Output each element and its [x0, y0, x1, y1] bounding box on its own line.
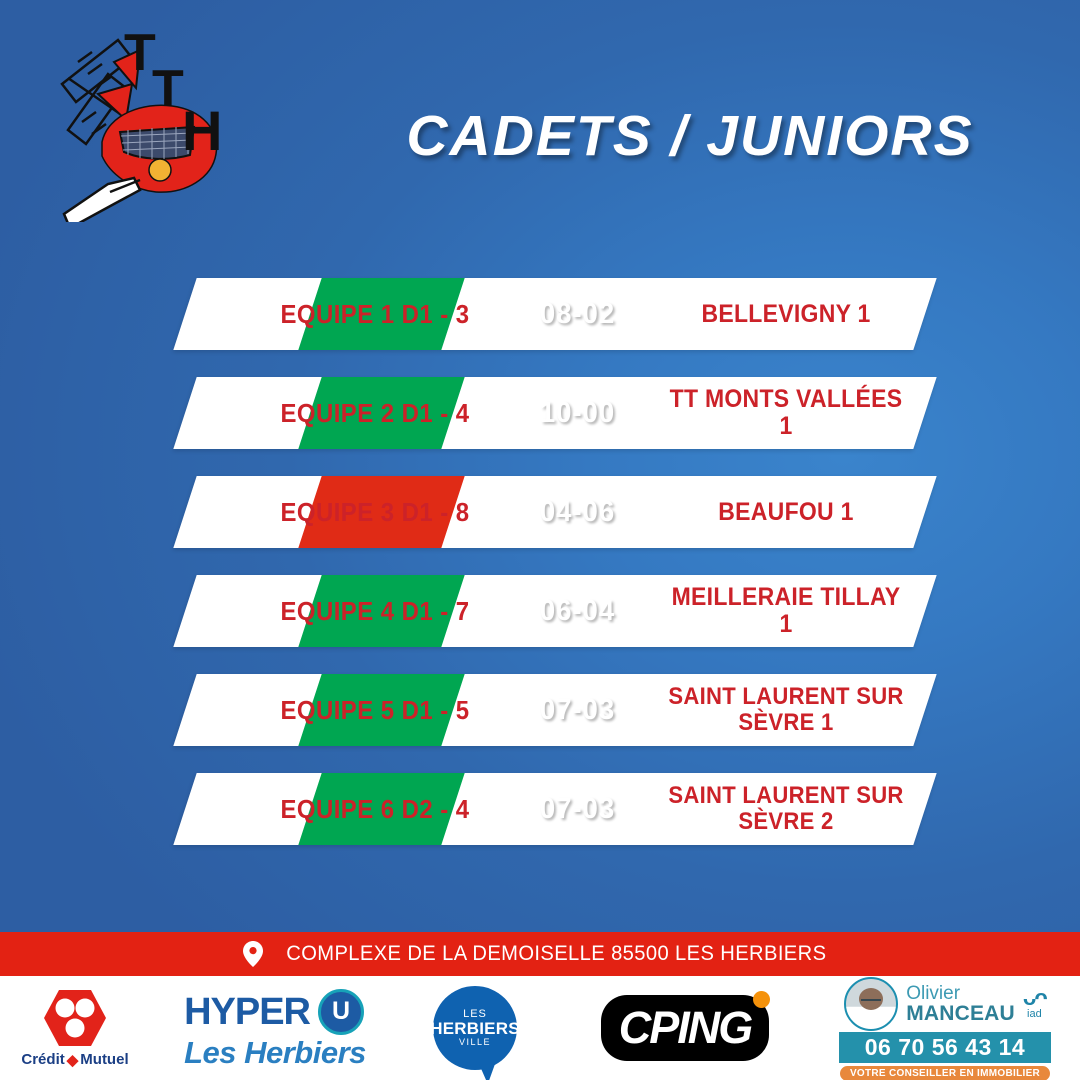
sponsor-strip: Crédit ◆ Mutuel HYPER U Les Herbiers LES…: [0, 976, 1080, 1080]
credit-mutuel-label-1: Crédit: [21, 1051, 64, 1068]
tth-logo-icon: T T H: [48, 22, 238, 222]
result-row: EQUIPE 5 D1 - 5 07-03 SAINT LAURENT SUR …: [0, 674, 1080, 746]
score-value: 07-03: [513, 674, 641, 746]
sponsor-hyper-u: HYPER U Les Herbiers: [150, 976, 400, 1080]
result-row: EQUIPE 1 D1 - 3 08-02 BELLEVIGNY 1: [0, 278, 1080, 350]
hyper-u-badge-icon: U: [318, 989, 364, 1035]
logo-letter-t2: T: [152, 60, 184, 118]
club-logo: T T H: [48, 22, 238, 222]
iad-brand: iad: [1027, 1009, 1042, 1020]
agent-last-name: MANCEAU: [906, 1003, 1015, 1024]
score-value: 07-03: [513, 773, 641, 845]
home-team-name: EQUIPE 2 D1 - 4: [237, 377, 513, 449]
result-row: EQUIPE 4 D1 - 7 06-04 MEILLERAIE TILLAY …: [0, 575, 1080, 647]
score-value: 06-04: [513, 575, 641, 647]
hyper-u-wordmark: HYPER: [184, 993, 310, 1031]
opponent-name: MEILLERAIE TILLAY 1: [658, 575, 914, 647]
credit-mutuel-diamond-icon: ◆: [67, 1051, 79, 1069]
result-row: EQUIPE 3 D1 - 8 04-06 BEAUFOU 1: [0, 476, 1080, 548]
hyper-u-subtitle: Les Herbiers: [184, 1037, 366, 1068]
results-list: EQUIPE 1 D1 - 3 08-02 BELLEVIGNY 1 EQUIP…: [0, 278, 1080, 872]
credit-mutuel-icon: [43, 988, 107, 1048]
agent-phone[interactable]: 06 70 56 43 14: [839, 1032, 1051, 1063]
venue-address-bar: COMPLEXE DE LA DEMOISELLE 85500 LES HERB…: [0, 932, 1080, 976]
opponent-name: BELLEVIGNY 1: [658, 278, 914, 350]
opponent-name: TT MONTS VALLÉES 1: [658, 377, 914, 449]
cping-wordmark: CPING: [619, 1002, 752, 1054]
agent-avatar: [844, 977, 898, 1031]
agent-first-name: Olivier: [906, 984, 1015, 1003]
sponsor-credit-mutuel: Crédit ◆ Mutuel: [0, 976, 150, 1080]
agent-tagline: VOTRE CONSEILLER EN IMMOBILIER: [840, 1066, 1050, 1080]
logo-letter-h: H: [182, 99, 222, 162]
page-title: CADETS / JUNIORS: [420, 100, 960, 172]
les-herbiers-line-2: HERBIERS: [430, 1020, 519, 1038]
home-team-name: EQUIPE 3 D1 - 8: [237, 476, 513, 548]
result-row: EQUIPE 2 D1 - 4 10-00 TT MONTS VALLÉES 1: [0, 377, 1080, 449]
iad-logo-icon: ᴗᴖ: [1023, 987, 1046, 1009]
ping-pong-ball-icon: [753, 991, 770, 1008]
opponent-name: SAINT LAURENT SUR SÈVRE 1: [658, 674, 914, 746]
home-team-name: EQUIPE 4 D1 - 7: [237, 575, 513, 647]
opponent-name: BEAUFOU 1: [658, 476, 914, 548]
poster-root: T T H CADETS / JUNIORS EQUIPE 1 D1 - 3 0…: [0, 0, 1080, 1080]
score-value: 08-02: [513, 278, 641, 350]
opponent-name: SAINT LAURENT SUR SÈVRE 2: [658, 773, 914, 845]
sponsor-cping: CPING: [550, 976, 820, 1080]
sponsor-olivier-manceau: Olivier MANCEAU ᴗᴖ iad 06 70 56 43 14 VO…: [820, 976, 1070, 1080]
credit-mutuel-label-2: Mutuel: [80, 1051, 128, 1068]
les-herbiers-bubble-icon: LES HERBIERS VILLE: [433, 986, 517, 1070]
home-team-name: EQUIPE 6 D2 - 4: [237, 773, 513, 845]
home-team-name: EQUIPE 1 D1 - 3: [237, 278, 513, 350]
sponsor-les-herbiers-ville: LES HERBIERS VILLE: [400, 976, 550, 1080]
result-row: EQUIPE 6 D2 - 4 07-03 SAINT LAURENT SUR …: [0, 773, 1080, 845]
home-team-name: EQUIPE 5 D1 - 5: [237, 674, 513, 746]
score-value: 10-00: [513, 377, 641, 449]
les-herbiers-line-3: VILLE: [459, 1038, 491, 1047]
map-pin-icon: [243, 941, 263, 967]
venue-address-text: COMPLEXE DE LA DEMOISELLE 85500 LES HERB…: [286, 942, 826, 966]
score-value: 04-06: [513, 476, 641, 548]
